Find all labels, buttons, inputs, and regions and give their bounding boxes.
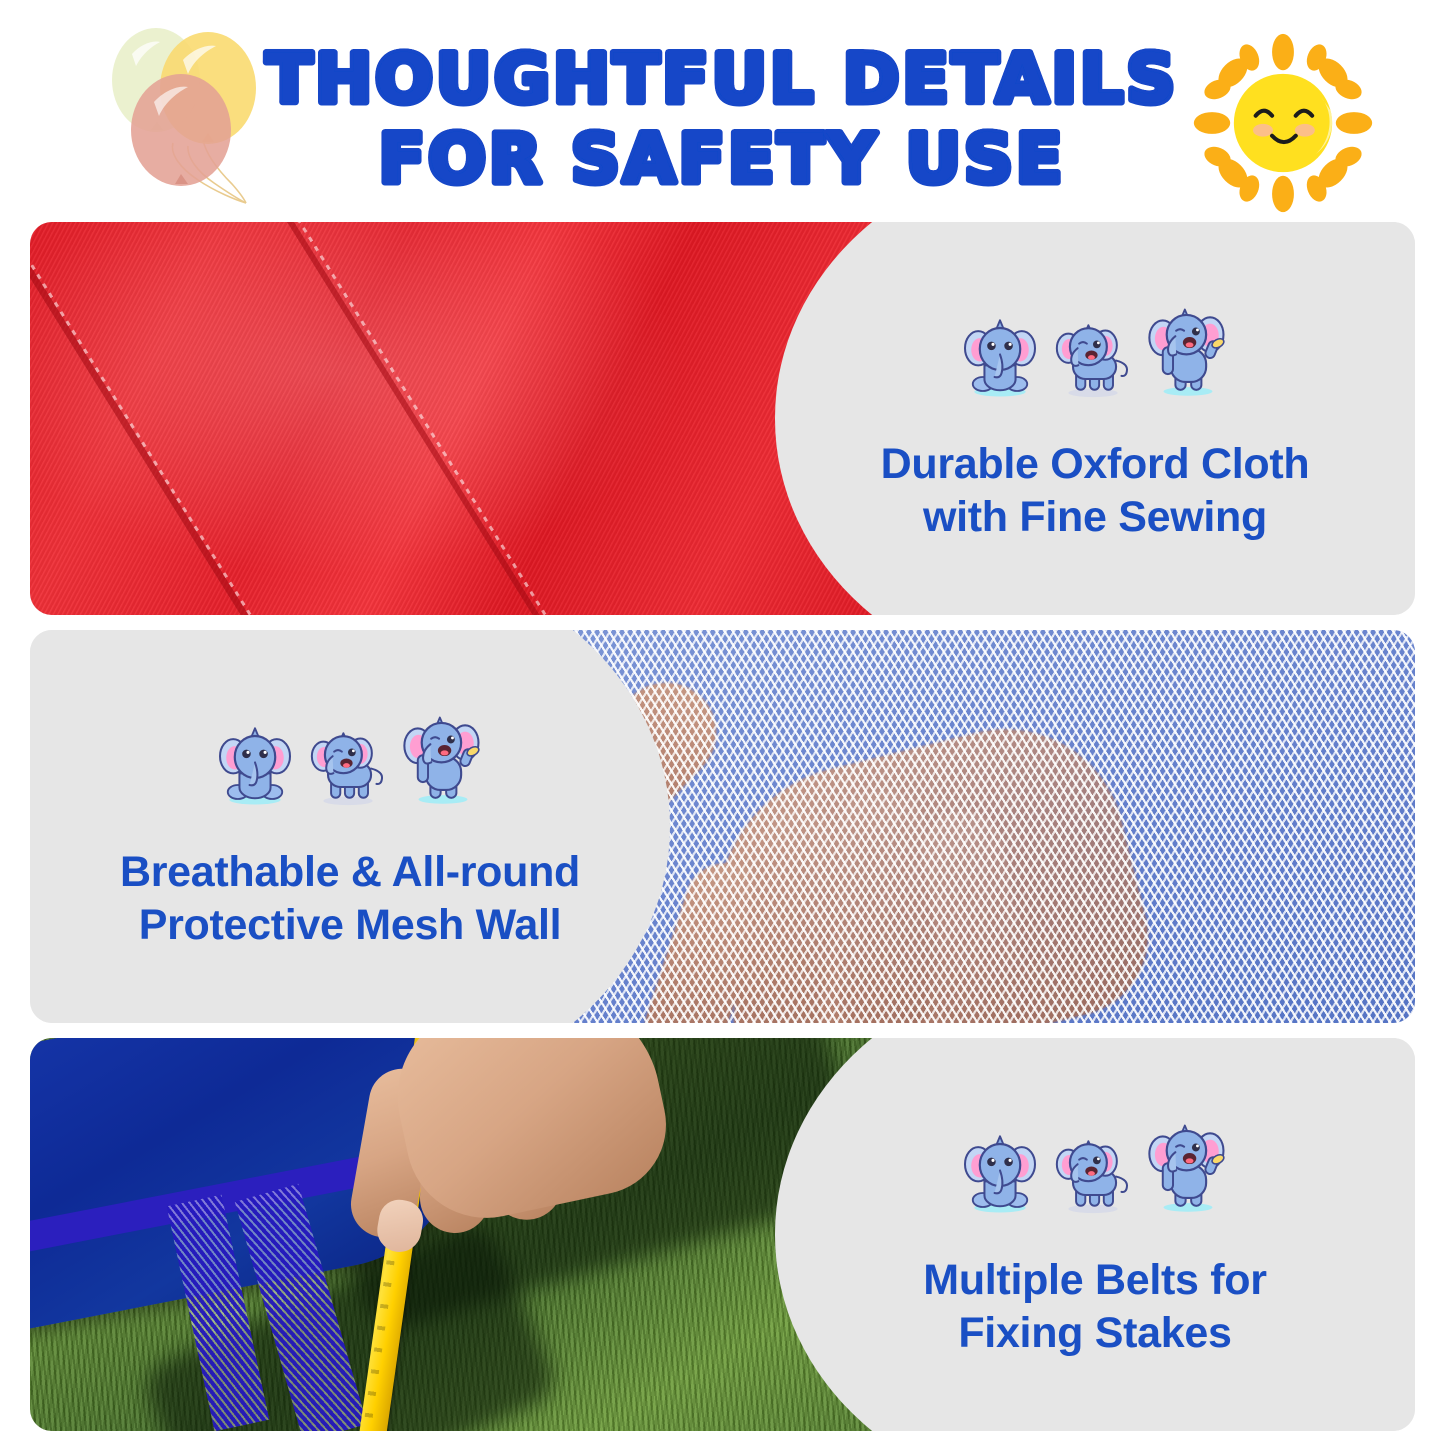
elephant-sitting-icon bbox=[961, 1130, 1039, 1214]
panel-content: Breathable & All-round Protective Mesh W… bbox=[40, 630, 660, 1023]
elephant-waving-icon bbox=[1147, 1122, 1229, 1214]
feature-panel-multiple-belts-stakes: Multiple Belts for Fixing Stakes bbox=[30, 1038, 1415, 1431]
page-header: THOUGHTFUL DETAILS FOR SAFETY USE bbox=[0, 0, 1445, 222]
elephant-standing-icon bbox=[308, 728, 388, 806]
svg-text:FOR SAFETY USE: FOR SAFETY USE bbox=[379, 120, 1066, 199]
svg-text:THOUGHTFUL DETAILS: THOUGHTFUL DETAILS bbox=[266, 40, 1178, 119]
feature-panel-durable-oxford-cloth: Durable Oxford Cloth with Fine Sewing bbox=[30, 222, 1415, 615]
elephant-mascot-group bbox=[961, 1110, 1229, 1214]
elephant-waving-icon bbox=[1147, 306, 1229, 398]
elephant-standing-icon bbox=[1053, 1136, 1133, 1214]
feature-panel-breathable-mesh-wall: Breathable & All-round Protective Mesh W… bbox=[30, 630, 1415, 1023]
panel-content: Multiple Belts for Fixing Stakes bbox=[785, 1038, 1405, 1431]
balloons-icon bbox=[88, 18, 288, 218]
sun-icon bbox=[1192, 32, 1374, 214]
elephant-sitting-icon bbox=[216, 722, 294, 806]
elephant-standing-icon bbox=[1053, 320, 1133, 398]
feature-text: Multiple Belts for Fixing Stakes bbox=[923, 1254, 1266, 1359]
elephant-mascot-group bbox=[216, 702, 484, 806]
elephant-mascot-group bbox=[961, 294, 1229, 398]
feature-panel-list: Durable Oxford Cloth with Fine Sewing bbox=[0, 222, 1445, 1431]
elephant-sitting-icon bbox=[961, 314, 1039, 398]
feature-text: Durable Oxford Cloth with Fine Sewing bbox=[881, 438, 1310, 543]
feature-text: Breathable & All-round Protective Mesh W… bbox=[120, 846, 580, 951]
elephant-waving-icon bbox=[402, 714, 484, 806]
panel-content: Durable Oxford Cloth with Fine Sewing bbox=[785, 222, 1405, 615]
